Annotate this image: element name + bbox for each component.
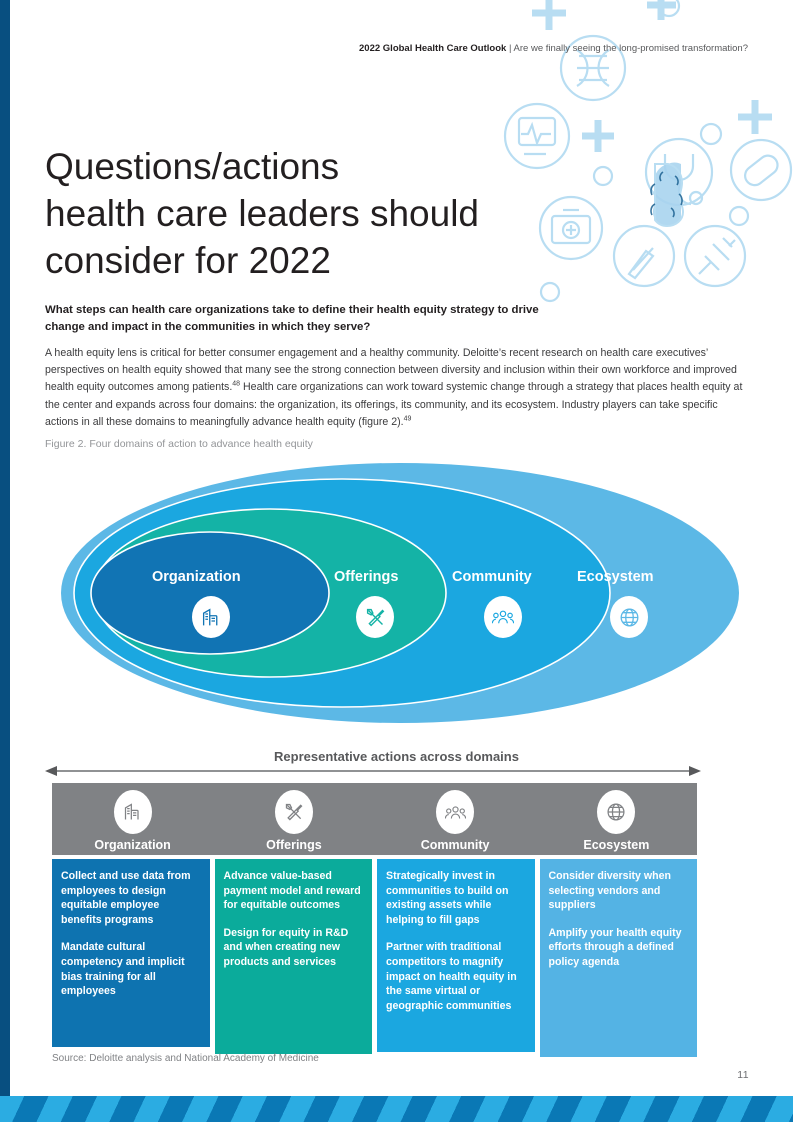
source-note: Source: Deloitte analysis and National A… bbox=[52, 1053, 319, 1064]
building-icon bbox=[114, 790, 152, 834]
globe-icon bbox=[610, 596, 648, 638]
matrix-action: Consider diversity when selecting vendor… bbox=[549, 869, 689, 913]
matrix-header-offerings: Offerings bbox=[213, 783, 374, 855]
matrix-caption: Representative actions across domains bbox=[0, 749, 793, 764]
matrix-header-ecosystem: Ecosystem bbox=[536, 783, 697, 855]
building-icon bbox=[192, 596, 230, 638]
footnote-ref-48: 48 bbox=[232, 381, 240, 388]
venn-label-offerings: Offerings bbox=[334, 569, 398, 585]
matrix-header-row: Organization Offerings Community bbox=[52, 783, 697, 855]
running-head-title: 2022 Global Health Care Outlook bbox=[359, 43, 506, 54]
four-domains-diagram: Organization Offerings Community Ecosyst… bbox=[60, 462, 740, 724]
running-head-subtitle: | Are we finally seeing the long-promise… bbox=[506, 43, 748, 54]
matrix-column-community: Strategically invest in communities to b… bbox=[377, 859, 535, 1052]
tools-icon bbox=[356, 596, 394, 638]
page-title-line-1: Questions/actions bbox=[45, 143, 585, 190]
matrix-header-organization: Organization bbox=[52, 783, 213, 855]
matrix-header-label: Organization bbox=[94, 838, 170, 852]
matrix-action: Amplify your health equity efforts throu… bbox=[549, 926, 689, 970]
venn-label-organization: Organization bbox=[152, 569, 241, 585]
matrix-action: Strategically invest in communities to b… bbox=[386, 869, 526, 927]
people-icon bbox=[484, 596, 522, 638]
span-arrow bbox=[45, 764, 701, 778]
venn-ellipses bbox=[60, 462, 740, 724]
lead-question: What steps can health care organizations… bbox=[45, 302, 565, 336]
matrix-header-label: Offerings bbox=[266, 838, 322, 852]
page-title-line-3: consider for 2022 bbox=[45, 237, 585, 284]
left-edge-bar bbox=[0, 0, 10, 1097]
matrix-header-label: Ecosystem bbox=[583, 838, 649, 852]
tools-icon bbox=[275, 790, 313, 834]
people-icon bbox=[436, 790, 474, 834]
matrix-body-row: Collect and use data from employees to d… bbox=[52, 859, 697, 1057]
matrix-action: Mandate cultural competency and implicit… bbox=[61, 940, 201, 998]
actions-matrix: Organization Offerings Community bbox=[52, 783, 697, 1057]
page-number: 11 bbox=[737, 1069, 749, 1081]
venn-label-ecosystem: Ecosystem bbox=[577, 569, 654, 585]
matrix-action: Collect and use data from employees to d… bbox=[61, 869, 201, 927]
venn-label-community: Community bbox=[452, 569, 532, 585]
footnote-ref-49: 49 bbox=[404, 415, 412, 422]
figure-caption: Figure 2. Four domains of action to adva… bbox=[45, 438, 313, 450]
globe-icon bbox=[597, 790, 635, 834]
matrix-column-ecosystem: Consider diversity when selecting vendor… bbox=[540, 859, 698, 1057]
matrix-column-organization: Collect and use data from employees to d… bbox=[52, 859, 210, 1047]
matrix-action: Design for equity in R&D and when creati… bbox=[224, 926, 364, 970]
matrix-header-community: Community bbox=[375, 783, 536, 855]
matrix-action: Advance value-based payment model and re… bbox=[224, 869, 364, 913]
matrix-action: Partner with traditional competitors to … bbox=[386, 940, 526, 1013]
page-title-line-2: health care leaders should bbox=[45, 190, 585, 237]
matrix-header-label: Community bbox=[421, 838, 490, 852]
matrix-column-offerings: Advance value-based payment model and re… bbox=[215, 859, 373, 1054]
body-paragraph: A health equity lens is critical for bet… bbox=[45, 345, 743, 431]
running-head: 2022 Global Health Care Outlook | Are we… bbox=[359, 43, 748, 54]
page-title: Questions/actions health care leaders sh… bbox=[45, 143, 585, 284]
footer-stripe-band bbox=[0, 1096, 793, 1122]
